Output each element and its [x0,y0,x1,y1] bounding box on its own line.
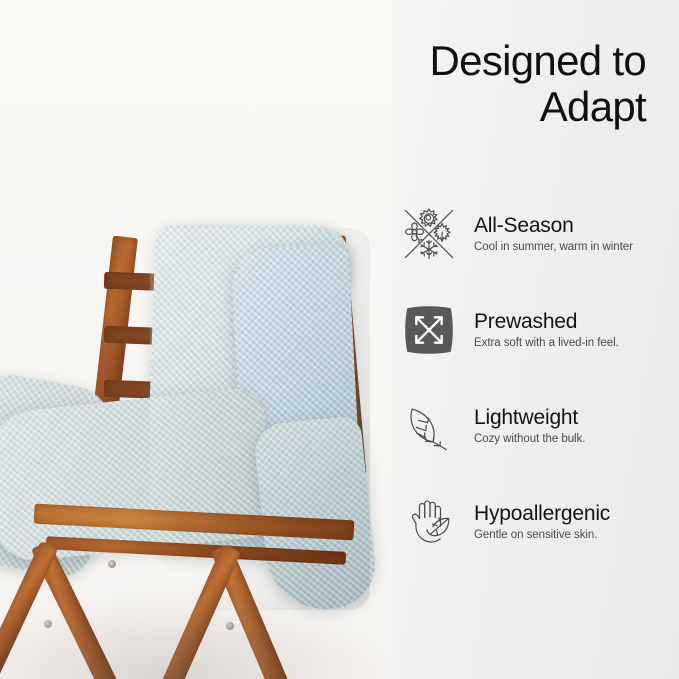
wooden-folding-chair [0,0,392,679]
blanket-hanging-tail [252,415,379,615]
feature-subtitle: Gentle on sensitive skin. [474,529,679,543]
feature-item-hypoallergenic: Hypoallergenic Gentle on sensitive skin. [398,474,679,570]
blanket-on-seat [0,386,277,564]
feature-text-prewashed: Prewashed Extra soft with a lived-in fee… [474,310,679,351]
floor-shadow [0,589,392,679]
feature-text-all-season: All-Season Cool in summer, warm in winte… [474,214,679,255]
feature-item-lightweight: Lightweight Cozy without the bulk. [398,378,679,474]
headline-line-2: Adapt [388,84,646,130]
hand-leaf-icon [398,491,460,553]
feature-item-all-season: All-Season Cool in summer, warm in winte… [398,186,679,282]
content-panel: Designed to Adapt [392,0,679,679]
feature-title: Lightweight [474,406,679,430]
headline-line-1: Designed to [430,37,646,84]
chair-bolt [108,560,116,568]
four-seasons-icon [398,203,460,265]
feature-subtitle: Extra soft with a lived-in feel. [474,337,679,351]
feature-title: Hypoallergenic [474,502,679,526]
product-photo [0,0,392,679]
product-feature-poster: Designed to Adapt [0,0,679,679]
feature-item-prewashed: Prewashed Extra soft with a lived-in fee… [398,282,679,378]
feature-title: Prewashed [474,310,679,334]
feature-text-lightweight: Lightweight Cozy without the bulk. [474,406,679,447]
feature-subtitle: Cozy without the bulk. [474,433,679,447]
feature-list: All-Season Cool in summer, warm in winte… [398,186,679,570]
feature-subtitle: Cool in summer, warm in winter [474,241,679,255]
feature-text-hypoallergenic: Hypoallergenic Gentle on sensitive skin. [474,502,679,543]
page-title: Designed to Adapt [388,38,646,130]
feature-title: All-Season [474,214,679,238]
feather-icon [398,395,460,457]
pillow-arrows-icon [398,299,460,361]
